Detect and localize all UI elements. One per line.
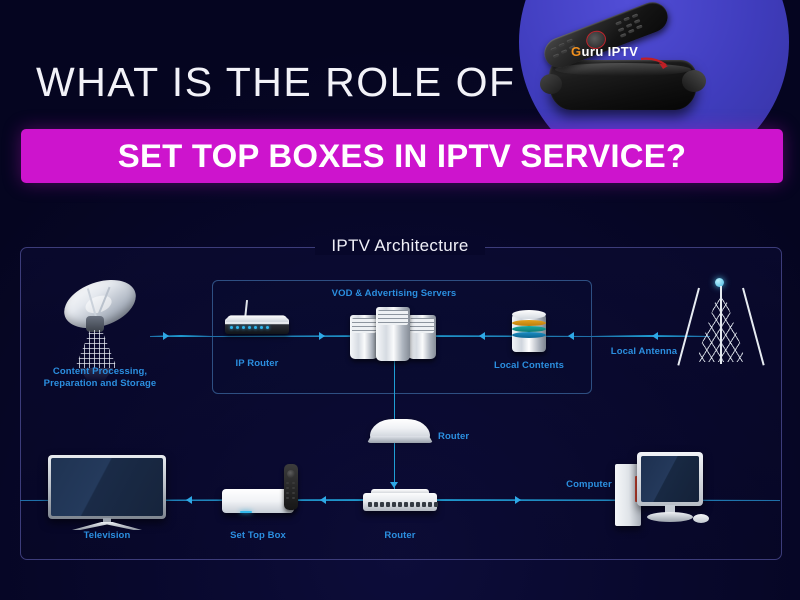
product-box-left-ear	[540, 74, 562, 94]
link-dish-to-router-glow	[150, 335, 212, 337]
link-servers-to-center-router	[394, 360, 395, 422]
local-antenna-icon	[690, 278, 752, 368]
switch-ports	[368, 502, 438, 507]
headline-banner: SET TOP BOXES IN IPTV SERVICE?	[21, 129, 783, 183]
brand-rest: uru IPTV	[582, 44, 639, 59]
label-television: Television	[57, 530, 157, 542]
disk-ring-blue	[512, 332, 546, 338]
product-box-right-ear	[682, 70, 706, 92]
label-local-contents: Local Contents	[479, 360, 579, 372]
red-arrow-icon	[639, 56, 671, 72]
poster-canvas: Guru IPTV WHAT IS THE ROLE OF SET TOP BO…	[0, 0, 800, 600]
pc-monitor-screen	[641, 456, 699, 502]
tv-stand	[72, 522, 142, 530]
label-set-top-box: Set Top Box	[205, 530, 311, 542]
ip-router-icon	[225, 312, 289, 334]
bottom-router-icon	[363, 489, 437, 515]
diagram-title-text: IPTV Architecture	[315, 236, 484, 255]
label-content-processing-line1: Content Processing,	[20, 366, 180, 378]
arrow-to-television	[186, 496, 192, 504]
product-box-body	[549, 60, 697, 110]
arrow-to-set-top-box	[320, 496, 326, 504]
banner-text: SET TOP BOXES IN IPTV SERVICE?	[10, 138, 795, 175]
label-local-antenna: Local Antenna	[596, 346, 692, 358]
stb-remote-dpad	[287, 470, 295, 478]
ip-router-leds	[230, 326, 269, 329]
center-router-icon	[367, 419, 433, 445]
dish-lattice-base	[75, 330, 117, 368]
pc-monitor	[637, 452, 703, 506]
arrow-to-computer	[515, 496, 521, 504]
satellite-dish-icon	[55, 282, 145, 372]
label-ip-router: IP Router	[205, 358, 309, 370]
pc-monitor-base	[647, 512, 693, 522]
label-content-processing: Content Processing, Preparation and Stor…	[20, 366, 180, 390]
label-center-router: Router	[438, 431, 494, 443]
arrow-router-right	[319, 332, 325, 340]
label-computer: Computer	[544, 479, 634, 491]
server-center	[376, 307, 410, 361]
stb-remote-icon	[284, 464, 298, 510]
label-bottom-router: Router	[352, 530, 448, 542]
tv-frame	[48, 455, 166, 519]
arrow-contents-left	[479, 332, 485, 340]
label-content-processing-line2: Preparation and Storage	[20, 378, 180, 390]
stb-led	[240, 511, 252, 513]
local-contents-icon	[512, 310, 546, 354]
vod-servers-icon	[350, 305, 438, 361]
arrow-dish-right	[163, 332, 169, 340]
diagram-title: IPTV Architecture	[0, 236, 800, 256]
disk-cap	[512, 310, 546, 319]
ip-router-top	[226, 315, 289, 322]
set-top-box-icon	[222, 487, 294, 517]
antenna-mast	[720, 286, 722, 364]
computer-icon	[615, 452, 707, 532]
arrow-bus-left	[568, 332, 574, 340]
television-icon	[48, 455, 166, 533]
server-left	[350, 315, 378, 359]
label-vod-servers: VOD & Advertising Servers	[314, 288, 474, 300]
center-router-base	[367, 436, 433, 443]
set-top-box-product-image: Guru IPTV	[527, 18, 713, 118]
arrow-antenna-left	[652, 332, 658, 340]
server-right	[408, 315, 436, 359]
page-headline: WHAT IS THE ROLE OF	[36, 59, 516, 106]
pc-mouse	[693, 514, 709, 523]
dish-hub	[86, 316, 104, 332]
brand-initial: G	[571, 44, 582, 59]
tv-screen	[51, 458, 163, 516]
arrow-down-to-switch	[390, 482, 398, 488]
brand-wordmark: Guru IPTV	[571, 44, 638, 59]
